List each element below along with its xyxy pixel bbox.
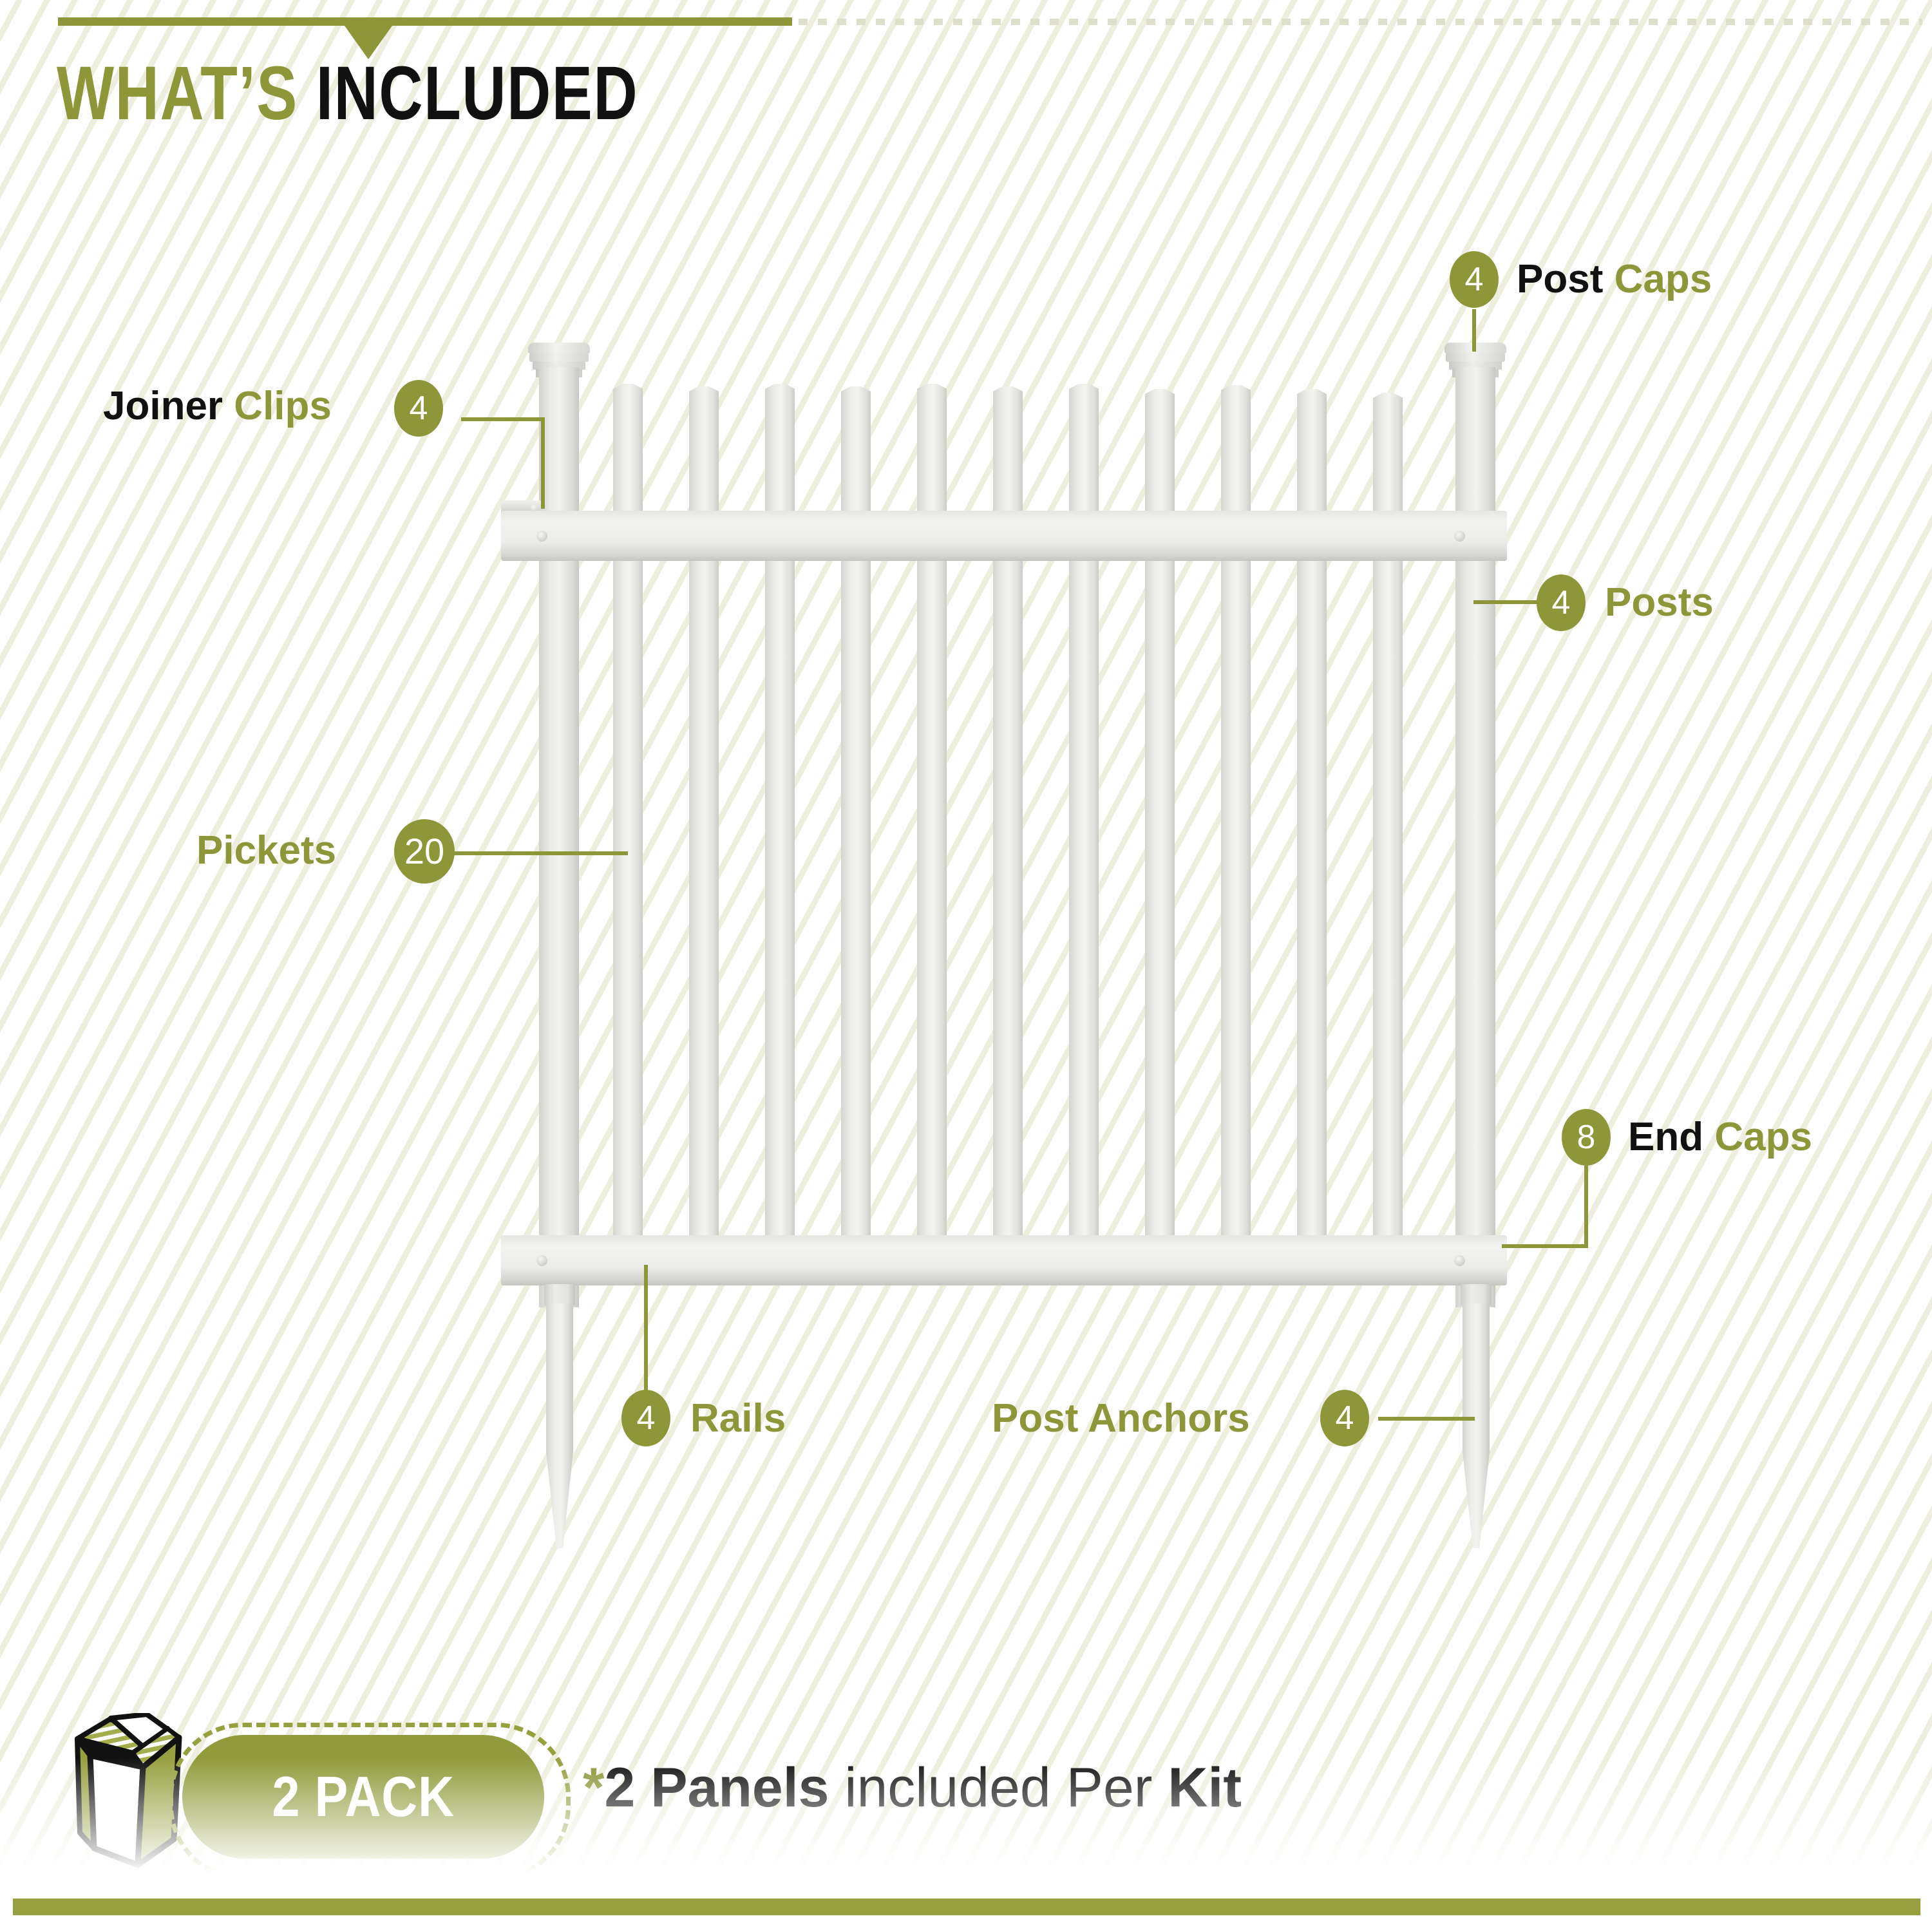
badge-pickets: 20 <box>394 819 455 884</box>
badge-post-caps-count: 4 <box>1465 263 1484 296</box>
footer-bar <box>13 1899 1920 1915</box>
label-joiner-clips-dark: Joiner <box>103 384 234 428</box>
rail-bottom <box>501 1235 1507 1285</box>
post-right <box>1455 367 1495 1307</box>
badge-posts: 4 <box>1537 574 1586 631</box>
badge-end-caps-count: 8 <box>1577 1121 1596 1154</box>
picket-top <box>1373 393 1403 412</box>
label-post-anchors-olive: Post Anchors <box>992 1396 1250 1441</box>
post-anchor-tip-left <box>546 1452 573 1548</box>
label-joiner-clips: Joiner Clips <box>103 386 332 426</box>
label-post-caps-olive: Caps <box>1615 257 1712 301</box>
label-post-caps-dark: Post <box>1517 257 1615 301</box>
label-posts: Posts <box>1605 583 1714 623</box>
pack-footnote-normal: included Per <box>829 1757 1168 1819</box>
badge-end-caps: 8 <box>1562 1109 1611 1166</box>
leader-pickets <box>451 851 628 855</box>
badge-post-caps: 4 <box>1450 251 1499 308</box>
badge-rails-count: 4 <box>637 1401 656 1435</box>
badge-joiner-clips-count: 4 <box>410 392 428 425</box>
label-end-caps-dark: End <box>1628 1115 1714 1159</box>
pack-footnote-asterisk: * <box>583 1757 604 1819</box>
post-left <box>539 367 579 1307</box>
picket-top <box>689 386 719 406</box>
infographic-canvas: WHAT’S INCLUDED <box>0 0 1932 1932</box>
label-pickets-olive: Pickets <box>196 828 336 873</box>
pack-footnote-bold1: 2 Panels <box>604 1757 829 1819</box>
label-rails-olive: Rails <box>690 1396 786 1441</box>
post-anchor-collar-right <box>1461 1284 1492 1306</box>
label-end-caps: End Caps <box>1628 1117 1812 1157</box>
badge-post-anchors: 4 <box>1320 1390 1369 1446</box>
label-pickets: Pickets <box>196 831 336 871</box>
pack-badge: 2 PACK <box>182 1735 544 1859</box>
post-anchor-left <box>546 1303 573 1453</box>
label-post-anchors: Post Anchors <box>992 1399 1250 1439</box>
picket-top <box>917 384 947 403</box>
post-anchor-collar-left <box>544 1284 575 1306</box>
leader-end-caps-v <box>1584 1166 1588 1248</box>
badge-rails: 4 <box>621 1390 670 1446</box>
badge-pickets-count: 20 <box>404 833 444 869</box>
label-end-caps-olive: Caps <box>1714 1115 1812 1159</box>
rail-top <box>501 511 1507 561</box>
picket-top <box>841 386 871 406</box>
picket-top <box>765 384 795 403</box>
badge-posts-count: 4 <box>1552 586 1571 620</box>
post-anchor-tip-right <box>1463 1452 1490 1548</box>
leader-post-anchors <box>1378 1417 1475 1421</box>
leader-post-caps <box>1472 309 1476 352</box>
picket-top <box>993 386 1023 406</box>
leader-joiner-clips-v <box>541 417 545 509</box>
pack-footnote: *2 Panels included Per Kit <box>583 1760 1242 1815</box>
label-joiner-clips-olive: Clips <box>234 384 332 428</box>
badge-post-anchors-count: 4 <box>1336 1401 1354 1435</box>
leader-rails <box>644 1265 648 1403</box>
badge-joiner-clips: 4 <box>394 380 443 437</box>
picket-top <box>1145 389 1175 408</box>
pack-footnote-bold2: Kit <box>1168 1757 1242 1819</box>
label-rails: Rails <box>690 1399 786 1439</box>
leader-joiner-clips-h <box>461 417 545 421</box>
pack-badge-label: 2 PACK <box>272 1764 455 1830</box>
picket-top <box>1297 389 1327 408</box>
leader-end-caps-h <box>1502 1244 1588 1248</box>
label-posts-olive: Posts <box>1605 580 1714 625</box>
post-anchor-right <box>1463 1303 1490 1453</box>
picket-top <box>1069 384 1099 403</box>
label-post-caps: Post Caps <box>1517 260 1712 299</box>
picket-top <box>613 384 643 403</box>
picket-top <box>1221 385 1251 404</box>
